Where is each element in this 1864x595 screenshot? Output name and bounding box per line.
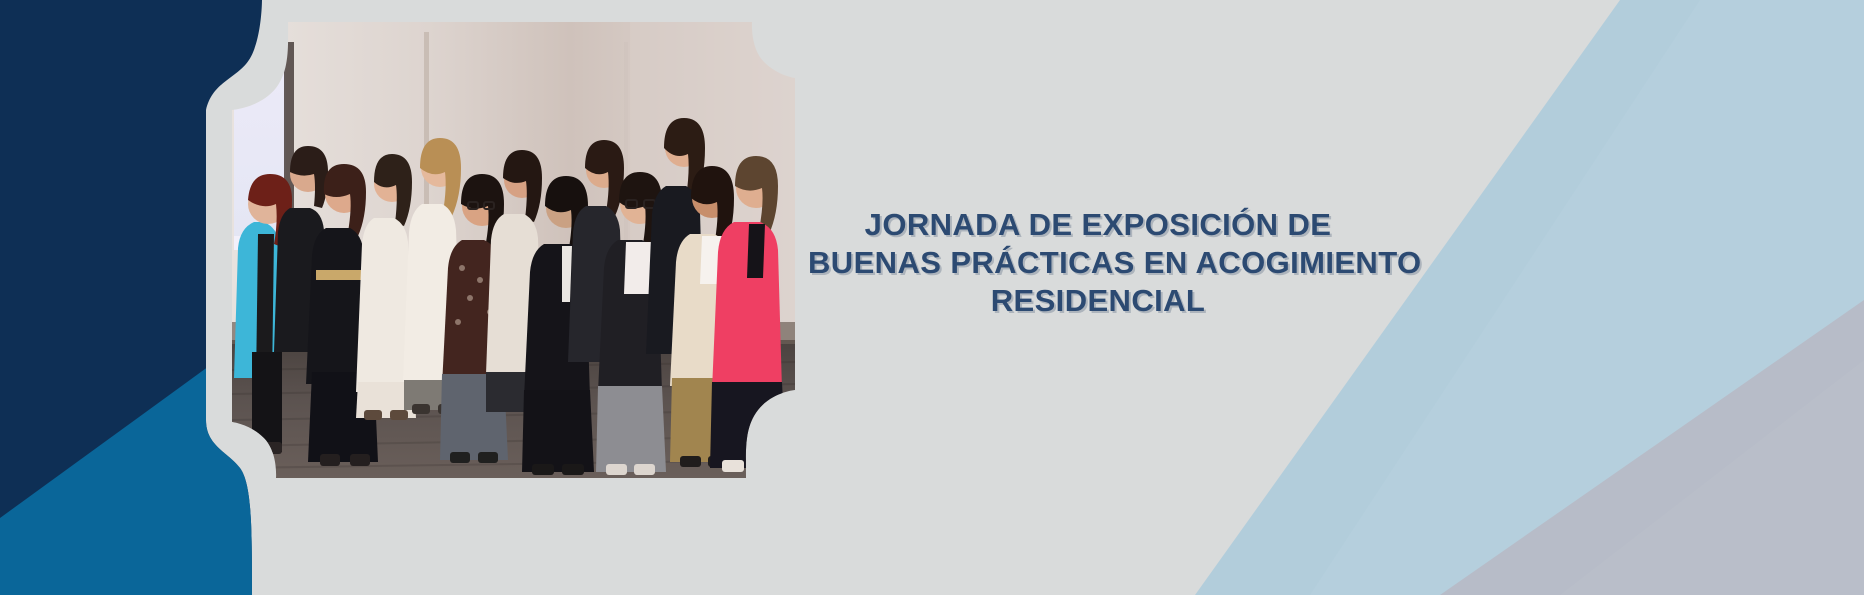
band-light-blue-2	[1310, 0, 1864, 595]
title-line-2: BUENAS PRÁCTICAS EN ACOGIMIENTO	[808, 244, 1388, 282]
banner-title: JORNADA DE EXPOSICIÓN DE BUENAS PRÁCTICA…	[808, 206, 1388, 320]
title-line-1: JORNADA DE EXPOSICIÓN DE	[808, 206, 1388, 244]
band-muted-blue-2	[1560, 360, 1864, 595]
event-banner: JORNADA DE EXPOSICIÓN DE BUENAS PRÁCTICA…	[0, 0, 1864, 595]
group-photo	[232, 22, 795, 478]
title-line-3: RESIDENCIAL	[808, 282, 1388, 320]
band-muted-blue	[1440, 300, 1864, 595]
group-photo-image	[232, 22, 795, 478]
